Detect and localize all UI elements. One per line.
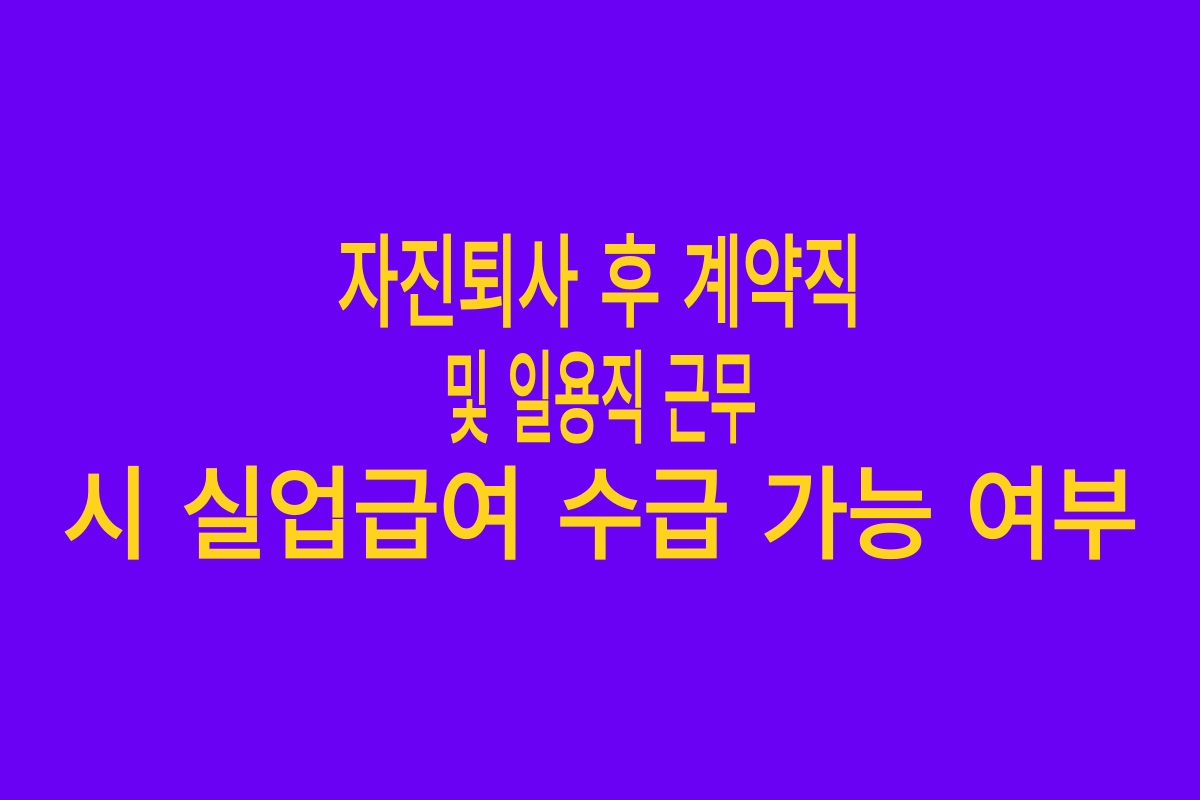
title-block: 자진퇴사 후 계약직 및 일용직 근무 시 실업급여 수급 가능 여부 [0,226,1200,574]
thumbnail-card: 자진퇴사 후 계약직 및 일용직 근무 시 실업급여 수급 가능 여부 [0,0,1200,800]
title-line-2: 및 일용직 근무 [303,342,898,458]
title-line-3: 시 실업급여 수급 가능 여부 [47,458,1152,574]
title-line-1: 자진퇴사 후 계약직 [215,226,985,342]
